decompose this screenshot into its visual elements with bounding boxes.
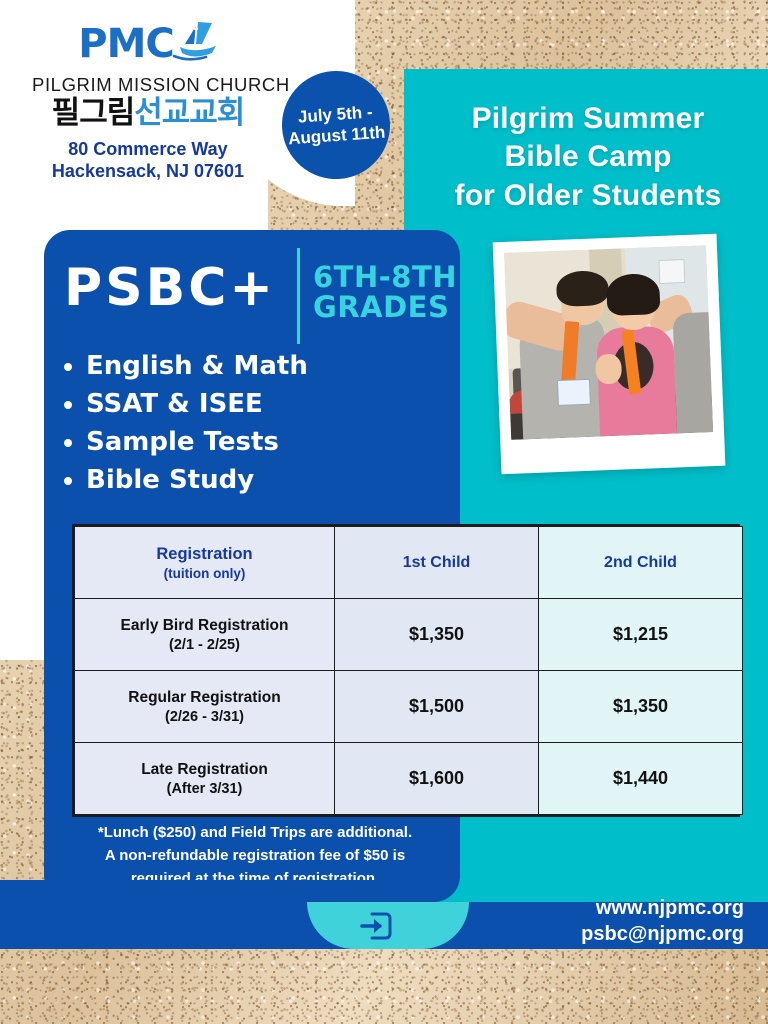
column-header-second-child: 2nd Child [539, 527, 743, 599]
church-name-korean: 필그림선교교회 [32, 97, 264, 130]
table-row: Regular Registration (2/26 - 3/31) $1,50… [75, 671, 743, 743]
contact-info[interactable]: www.njpmc.org psbc@njpmc.org [581, 896, 744, 947]
camp-dates-text: July 5th - August 11th [286, 100, 386, 149]
camp-photo [504, 245, 713, 440]
row-label-cell: Regular Registration (2/26 - 3/31) [75, 671, 335, 743]
column-header-registration: Registration (tuition only) [75, 527, 335, 599]
list-item: Sample Tests [62, 424, 308, 462]
divider [297, 248, 300, 344]
list-item: SSAT & ISEE [62, 386, 308, 424]
price-cell-first-child: $1,350 [335, 599, 539, 671]
table-row: Early Bird Registration (2/1 - 2/25) $1,… [75, 599, 743, 671]
table-header-row: Registration (tuition only) 1st Child 2n… [75, 527, 743, 599]
logo-mark: PMC [32, 20, 264, 68]
pricing-table-wrapper: Registration (tuition only) 1st Child 2n… [72, 524, 740, 817]
church-name-korean-part1: 필그림 [52, 95, 135, 131]
program-grades: 6TH-8TH GRADES [313, 262, 457, 323]
price-cell-first-child: $1,600 [335, 743, 539, 815]
row-label-cell: Late Registration (After 3/31) [75, 743, 335, 815]
church-logo: PMC PILGRIM MISSION CHURCH 필그림선교교회 80 Co… [32, 20, 264, 183]
pricing-table: Registration (tuition only) 1st Child 2n… [74, 526, 743, 815]
camp-photo-frame [493, 234, 726, 474]
page-title: Pilgrim Summer Bible Camp for Older Stud… [412, 100, 764, 215]
list-item: Bible Study [62, 462, 308, 500]
price-cell-second-child: $1,215 [539, 599, 743, 671]
program-name: PSBC+ [64, 262, 276, 314]
address-line-1: 80 Commerce Way [32, 138, 264, 161]
table-row: Late Registration (After 3/31) $1,600 $1… [75, 743, 743, 815]
list-item: English & Math [62, 348, 308, 386]
sailboat-icon [172, 20, 218, 69]
sign-in-icon[interactable] [358, 908, 394, 944]
column-header-first-child: 1st Child [335, 527, 539, 599]
address-line-2: Hackensack, NJ 07601 [32, 160, 264, 183]
church-name-korean-part2: 선교교회 [134, 95, 244, 131]
price-cell-first-child: $1,500 [335, 671, 539, 743]
program-features-list: English & Math SSAT & ISEE Sample Tests … [62, 348, 308, 500]
price-cell-second-child: $1,350 [539, 671, 743, 743]
church-name-english: PILGRIM MISSION CHURCH [32, 74, 264, 96]
price-cell-second-child: $1,440 [539, 743, 743, 815]
logo-acronym: PMC [78, 24, 173, 64]
row-label-cell: Early Bird Registration (2/1 - 2/25) [75, 599, 335, 671]
